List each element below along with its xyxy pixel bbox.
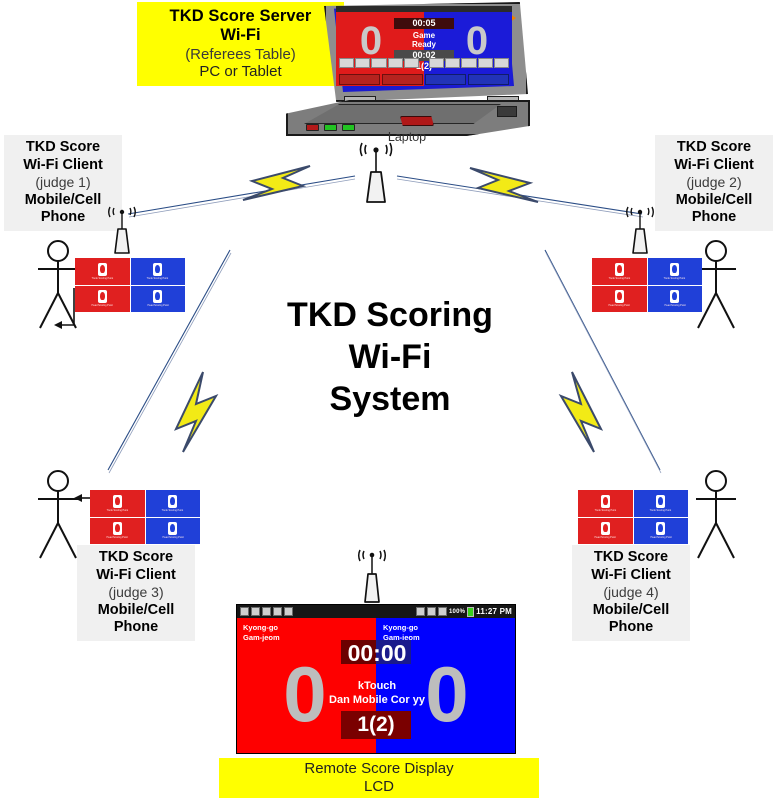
trunk-icon	[656, 495, 665, 508]
bolt-judge1	[243, 166, 310, 200]
app-key[interactable]	[429, 58, 444, 68]
score-cell-head-blue[interactable]: Head Scoring Point	[131, 286, 186, 313]
trunk-icon	[615, 263, 624, 276]
judge-2-line1: TKD Score	[677, 139, 751, 157]
app-button-referees-setup[interactable]	[468, 74, 509, 85]
score-cell-label: Head Scoring Point	[664, 304, 685, 307]
lcd-brand-line1: kTouch	[321, 679, 433, 693]
judge-4-label: TKD Score Wi-Fi Client (judge 4) Mobile/…	[572, 545, 690, 641]
judge-3-line5: Phone	[114, 619, 158, 637]
page-title-line3: System	[240, 379, 540, 421]
trunk-icon	[113, 495, 122, 508]
trunk-icon	[168, 495, 177, 508]
calendar-icon	[262, 607, 271, 616]
stick-figure-icon	[688, 468, 744, 560]
score-cell-head-red[interactable]: Head Scoring Point	[90, 518, 145, 545]
judge-4-line5: Phone	[609, 619, 653, 637]
head-icon	[601, 522, 610, 535]
trunk-icon	[153, 263, 162, 276]
score-pad-judge-3[interactable]: Trunk Scoring Point Trunk Scoring Point …	[90, 490, 200, 544]
score-cell-label: Head Scoring Point	[609, 304, 630, 307]
lcd-round: 1(2)	[341, 713, 411, 737]
server-callout-line3: (Referees Table)	[185, 46, 296, 64]
app-key[interactable]	[371, 58, 386, 68]
sim-icon	[240, 607, 249, 616]
app-key[interactable]	[339, 58, 354, 68]
score-cell-head-red[interactable]: Head Scoring Point	[592, 286, 647, 313]
app-key[interactable]	[494, 58, 509, 68]
judge-1-line1: TKD Score	[26, 139, 100, 157]
score-cell-label: Head Scoring Point	[650, 536, 671, 539]
judge-1-line3: (judge 1)	[35, 174, 90, 191]
alarm-icon	[416, 607, 425, 616]
lcd-callout-box: Remote Score Display LCD	[219, 758, 539, 798]
app-score-red: 0	[342, 20, 400, 62]
bolt-judge3	[176, 372, 216, 452]
remote-score-display: 100% 11:27 PM Kyong-go Gam-jeom Kyong-go…	[236, 604, 516, 754]
lcd-battery-percent: 100%	[449, 609, 465, 615]
lcd-callout-line2: LCD	[364, 778, 394, 796]
bolt-judge4	[561, 372, 601, 452]
score-cell-trunk-red[interactable]: Trunk Scoring Point	[592, 258, 647, 285]
app-score-blue: 0	[448, 20, 506, 62]
download-icon	[273, 607, 282, 616]
score-cell-label: Head Scoring Point	[107, 536, 128, 539]
score-cell-head-blue[interactable]: Head Scoring Point	[146, 518, 201, 545]
bolt-judge2	[470, 168, 538, 202]
lcd-status-left-icons	[240, 607, 293, 616]
score-cell-label: Trunk Scoring Point	[608, 277, 630, 280]
score-cell-head-red[interactable]: Head Scoring Point	[578, 518, 633, 545]
head-icon	[113, 522, 122, 535]
app-keyrow-blue	[429, 58, 509, 68]
score-cell-label: Head Scoring Point	[147, 304, 168, 307]
antenna-server	[352, 142, 400, 204]
lcd-left-gamjeom: Gam-jeom	[243, 633, 280, 642]
app-keyrow-red	[339, 58, 419, 68]
score-pad-judge-1[interactable]: Trunk Scoring Point Trunk Scoring Point …	[75, 258, 185, 312]
score-cell-head-red[interactable]: Head Scoring Point	[75, 286, 130, 313]
judge-4-line2: Wi-Fi Client	[591, 567, 671, 585]
app-key[interactable]	[461, 58, 476, 68]
score-cell-trunk-blue[interactable]: Trunk Scoring Point	[131, 258, 186, 285]
score-cell-label: Trunk Scoring Point	[106, 509, 128, 512]
head-icon	[670, 290, 679, 303]
server-callout-line4: PC or Tablet	[199, 63, 281, 81]
lcd-status-time: 11:27 PM	[476, 607, 512, 616]
score-pad-judge-2[interactable]: Trunk Scoring Point Trunk Scoring Point …	[592, 258, 702, 312]
judge-3-line2: Wi-Fi Client	[96, 567, 176, 585]
judge-3-line3: (judge 3)	[108, 584, 163, 601]
score-cell-trunk-blue[interactable]: Trunk Scoring Point	[634, 490, 689, 517]
diagram-canvas: TKD Score Server Wi-Fi (Referees Table) …	[0, 0, 777, 800]
score-cell-label: Trunk Scoring Point	[594, 509, 616, 512]
judge-4-line1: TKD Score	[594, 549, 668, 567]
score-cell-head-blue[interactable]: Head Scoring Point	[648, 286, 703, 313]
page-title-line1: TKD Scoring	[240, 295, 540, 337]
score-cell-label: Head Scoring Point	[595, 536, 616, 539]
app-state-line1: Game	[394, 31, 454, 40]
app-button-row	[339, 74, 509, 83]
head-icon	[168, 522, 177, 535]
laptop-graphic: 0 0 00:05 Game Ready 00:02 1(2)	[282, 0, 532, 140]
judge-2-line2: Wi-Fi Client	[674, 157, 754, 175]
app-key[interactable]	[355, 58, 370, 68]
lcd-status-bar: 100% 11:27 PM	[237, 605, 515, 618]
app-button-game-options[interactable]	[382, 74, 423, 85]
wifi-icon	[427, 607, 436, 616]
judge-2-label: TKD Score Wi-Fi Client (judge 2) Mobile/…	[655, 135, 773, 231]
judge-1-line2: Wi-Fi Client	[23, 157, 103, 175]
lcd-game-clock: 00:00	[337, 641, 417, 665]
judge-1-line4: Mobile/Cell	[25, 192, 102, 210]
page-title: TKD Scoring Wi-Fi System	[240, 295, 540, 420]
judge-1-line5: Phone	[41, 209, 85, 227]
app-button-reset-game[interactable]	[339, 74, 380, 85]
lcd-status-right-icons: 100% 11:27 PM	[416, 607, 512, 617]
laptop-port-icon	[497, 106, 517, 117]
battery-icon	[467, 607, 474, 617]
lcd-right-kyonggo: Kyong-go	[383, 623, 418, 632]
wifi-antenna-icon	[622, 205, 658, 255]
antenna-judge-1	[104, 205, 140, 255]
trunk-icon	[601, 495, 610, 508]
judge-3-label: TKD Score Wi-Fi Client (judge 3) Mobile/…	[77, 545, 195, 641]
score-cell-label: Trunk Scoring Point	[162, 509, 184, 512]
app-state-line2: Ready	[394, 40, 454, 49]
score-cell-label: Trunk Scoring Point	[91, 277, 113, 280]
wifi-antenna-icon	[104, 205, 140, 255]
score-cell-head-blue[interactable]: Head Scoring Point	[634, 518, 689, 545]
score-cell-label: Head Scoring Point	[162, 536, 183, 539]
laptop-caption: Laptop	[282, 130, 532, 144]
lcd-brand-line2: Dan Mobile Cor yy	[321, 693, 433, 707]
judge-3-line4: Mobile/Cell	[98, 602, 175, 620]
judge-2-line4: Mobile/Cell	[676, 192, 753, 210]
lcd-brand: kTouch Dan Mobile Cor yy	[321, 679, 433, 707]
app-key[interactable]	[404, 58, 419, 68]
judge-2-line3: (judge 2)	[686, 174, 741, 191]
wifi-antenna-icon	[352, 548, 392, 604]
app-key[interactable]	[445, 58, 460, 68]
head-icon	[98, 290, 107, 303]
app-key[interactable]	[478, 58, 493, 68]
laptop-touchpad-icon	[400, 116, 434, 126]
antenna-judge-2	[622, 205, 658, 255]
lock-icon	[284, 607, 293, 616]
score-cell-trunk-red[interactable]: Trunk Scoring Point	[75, 258, 130, 285]
judge-4-line4: Mobile/Cell	[593, 602, 670, 620]
link-line-judge1	[128, 176, 355, 214]
score-cell-label: Trunk Scoring Point	[147, 277, 169, 280]
head-icon	[153, 290, 162, 303]
score-cell-trunk-red[interactable]: Trunk Scoring Point	[578, 490, 633, 517]
score-cell-trunk-red[interactable]: Trunk Scoring Point	[90, 490, 145, 517]
app-game-clock: 00:05	[394, 18, 454, 29]
head-icon	[615, 290, 624, 303]
wifi-antenna-icon	[352, 142, 400, 204]
message-icon	[251, 607, 260, 616]
stick-figure-judge-4	[688, 468, 744, 560]
server-app-screen: 0 0 00:05 Game Ready 00:02 1(2)	[336, 6, 512, 86]
score-cell-label: Head Scoring Point	[92, 304, 113, 307]
lcd-left-kyonggo: Kyong-go	[243, 623, 278, 632]
head-icon	[656, 522, 665, 535]
app-key[interactable]	[388, 58, 403, 68]
lcd-callout-line1: Remote Score Display	[304, 760, 453, 778]
judge-4-line3: (judge 4)	[603, 584, 658, 601]
score-cell-label: Trunk Scoring Point	[650, 509, 672, 512]
score-cell-trunk-blue[interactable]: Trunk Scoring Point	[146, 490, 201, 517]
judge-2-line5: Phone	[692, 209, 736, 227]
server-callout-line2: Wi-Fi	[220, 26, 260, 45]
trunk-icon	[98, 263, 107, 276]
link-line-judge2	[397, 176, 642, 214]
app-button-server-preferences[interactable]	[425, 74, 466, 85]
antenna-lcd	[352, 548, 392, 604]
page-title-line2: Wi-Fi	[240, 337, 540, 379]
signal-icon	[438, 607, 447, 616]
score-pad-judge-4[interactable]: Trunk Scoring Point Trunk Scoring Point …	[578, 490, 688, 544]
score-cell-trunk-blue[interactable]: Trunk Scoring Point	[648, 258, 703, 285]
trunk-icon	[670, 263, 679, 276]
score-cell-label: Trunk Scoring Point	[664, 277, 686, 280]
judge-3-line1: TKD Score	[99, 549, 173, 567]
